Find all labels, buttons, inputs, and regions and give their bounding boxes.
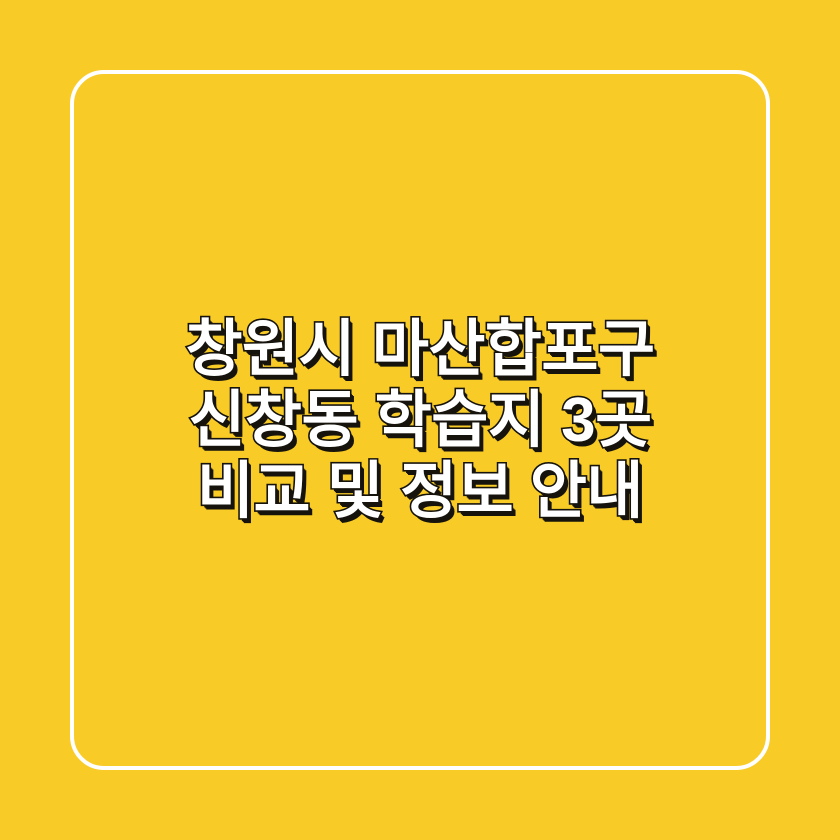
headline-block: 창원시 마산합포구 신창동 학습지 3곳 비교 및 정보 안내 <box>0 0 840 840</box>
poster-canvas: 창원시 마산합포구 신창동 학습지 3곳 비교 및 정보 안내 <box>0 0 840 840</box>
headline-line-3: 비교 및 정보 안내 <box>197 456 643 527</box>
headline-line-2: 신창동 학습지 3곳 <box>188 385 651 456</box>
headline-line-1: 창원시 마산합포구 <box>185 314 654 385</box>
